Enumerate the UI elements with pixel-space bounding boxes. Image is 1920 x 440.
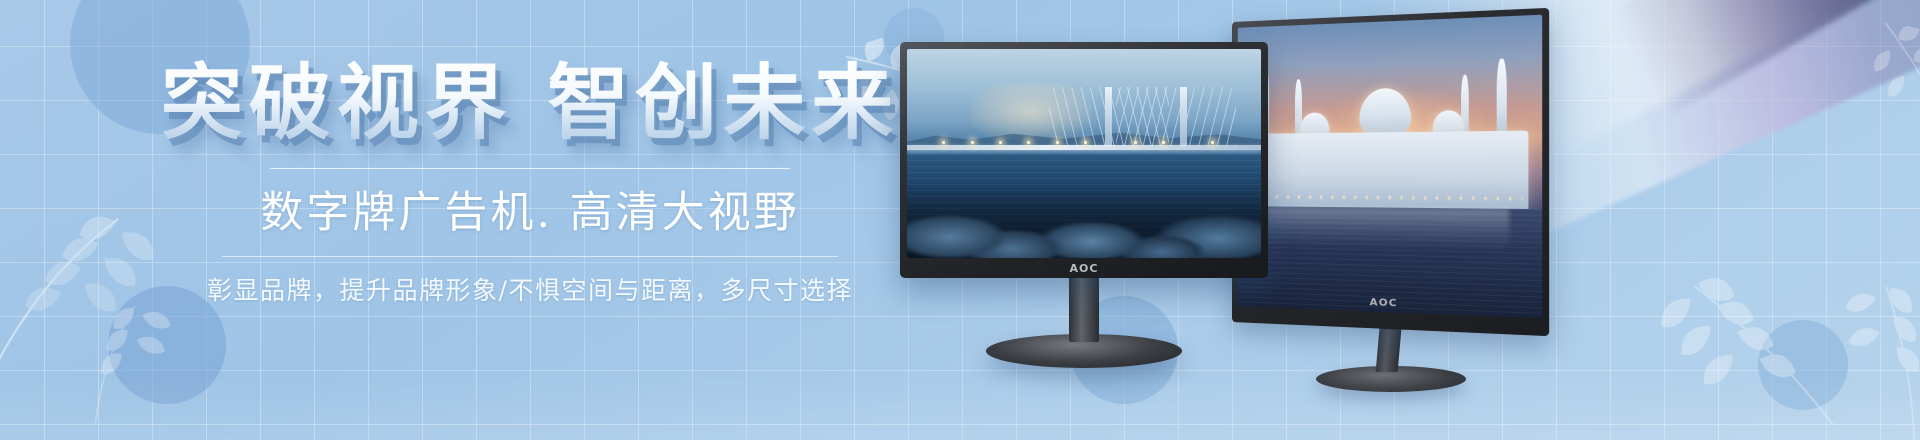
brand-logo-back: AOC — [1369, 297, 1397, 310]
bridge-artwork — [907, 49, 1261, 258]
minaret — [1496, 58, 1506, 136]
rocky-shore — [907, 183, 1261, 258]
monitor-front-stand-neck — [1069, 274, 1099, 342]
bridge-pylon — [1180, 87, 1187, 148]
bridge-pylon — [1105, 87, 1112, 148]
street-lamp — [999, 141, 1002, 144]
water-reflection — [1266, 206, 1509, 251]
product-showcase: AOC — [880, 0, 1920, 440]
street-lamp — [1056, 141, 1059, 144]
bridge-cables — [1116, 87, 1236, 148]
monitor-back-screen — [1238, 15, 1542, 319]
divider-primary — [270, 168, 790, 169]
monitor-front-screen — [907, 49, 1261, 258]
bridge-deck — [907, 145, 1261, 150]
monitor-back-bezel: AOC — [1232, 8, 1549, 336]
monitor-front-bezel: AOC — [900, 42, 1268, 278]
street-lamp — [1134, 141, 1137, 144]
monitor-front: AOC — [900, 42, 1268, 278]
brand-logo-front: AOC — [1070, 262, 1099, 275]
street-lamp — [1084, 141, 1087, 144]
street-lamp — [971, 141, 974, 144]
street-lamp — [1162, 141, 1165, 144]
promo-banner: 突破视界 智创未来 数字牌广告机. 高清大视野 彰显品牌，提升品牌形象/不惧空间… — [0, 0, 1920, 440]
divider-secondary — [222, 256, 838, 257]
mosque-artwork — [1238, 15, 1542, 319]
monitor-back: AOC — [1232, 22, 1532, 322]
